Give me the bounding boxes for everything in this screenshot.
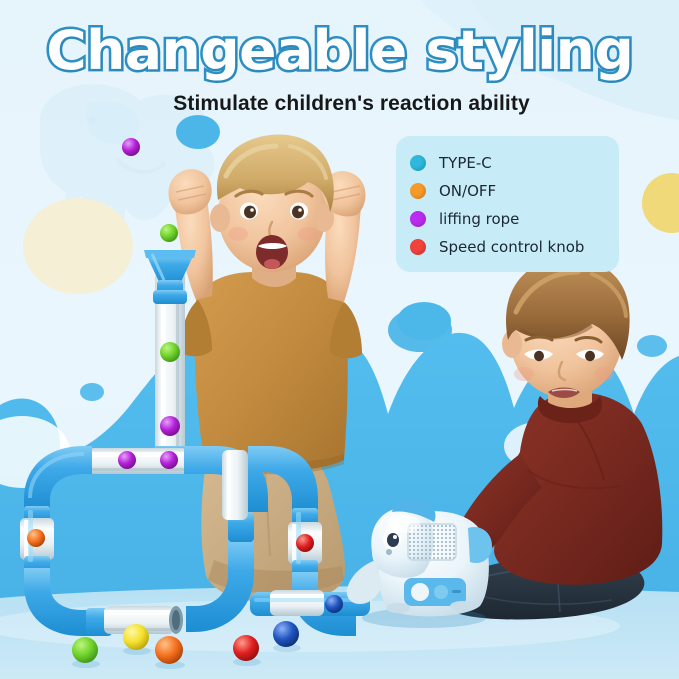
legend-item-on-off[interactable]: ON/OFF — [410, 177, 619, 205]
legend-item-lifting-rope[interactable]: liffing rope — [410, 205, 619, 233]
ball-purple-float — [122, 138, 140, 156]
legend-dot-speed-control-knob — [410, 239, 426, 255]
page-subtitle: Stimulate children's reaction ability — [149, 92, 529, 116]
page-subtitle-wrap: Stimulate children's reaction ability — [0, 92, 679, 116]
legend-label-speed-control-knob: Speed control knob — [439, 238, 584, 256]
ball-orange-joint-left — [27, 529, 45, 547]
legend-dot-lifting-rope — [410, 211, 426, 227]
legend-label-on-off: ON/OFF — [439, 182, 496, 200]
legend-item-speed-control-knob[interactable]: Speed control knob — [410, 233, 619, 261]
feature-legend-panel: TYPE-C ON/OFF liffing rope Speed control… — [396, 136, 619, 272]
ball-blue-bottom-pipe — [325, 595, 343, 613]
ball-purple-tube — [160, 416, 180, 436]
legend-dot-on-off — [410, 183, 426, 199]
product-marketing-image: Changeable styling Stimulate children's … — [0, 0, 679, 679]
ball-green-tube-1 — [160, 224, 178, 242]
ball-purple-h2 — [160, 451, 178, 469]
legend-item-type-c[interactable]: TYPE-C — [410, 149, 619, 177]
legend-dot-type-c — [410, 155, 426, 171]
legend-label-type-c: TYPE-C — [439, 154, 492, 172]
legend-label-lifting-rope: liffing rope — [439, 210, 519, 228]
ball-yellow — [123, 624, 149, 650]
ball-green — [72, 637, 98, 663]
ball-purple-h1 — [118, 451, 136, 469]
ball-red — [233, 635, 259, 661]
ball-red-joint-right — [296, 534, 314, 552]
ball-green-tube-2 — [160, 342, 180, 362]
ball-blue — [273, 621, 299, 647]
ball-orange — [155, 636, 183, 664]
